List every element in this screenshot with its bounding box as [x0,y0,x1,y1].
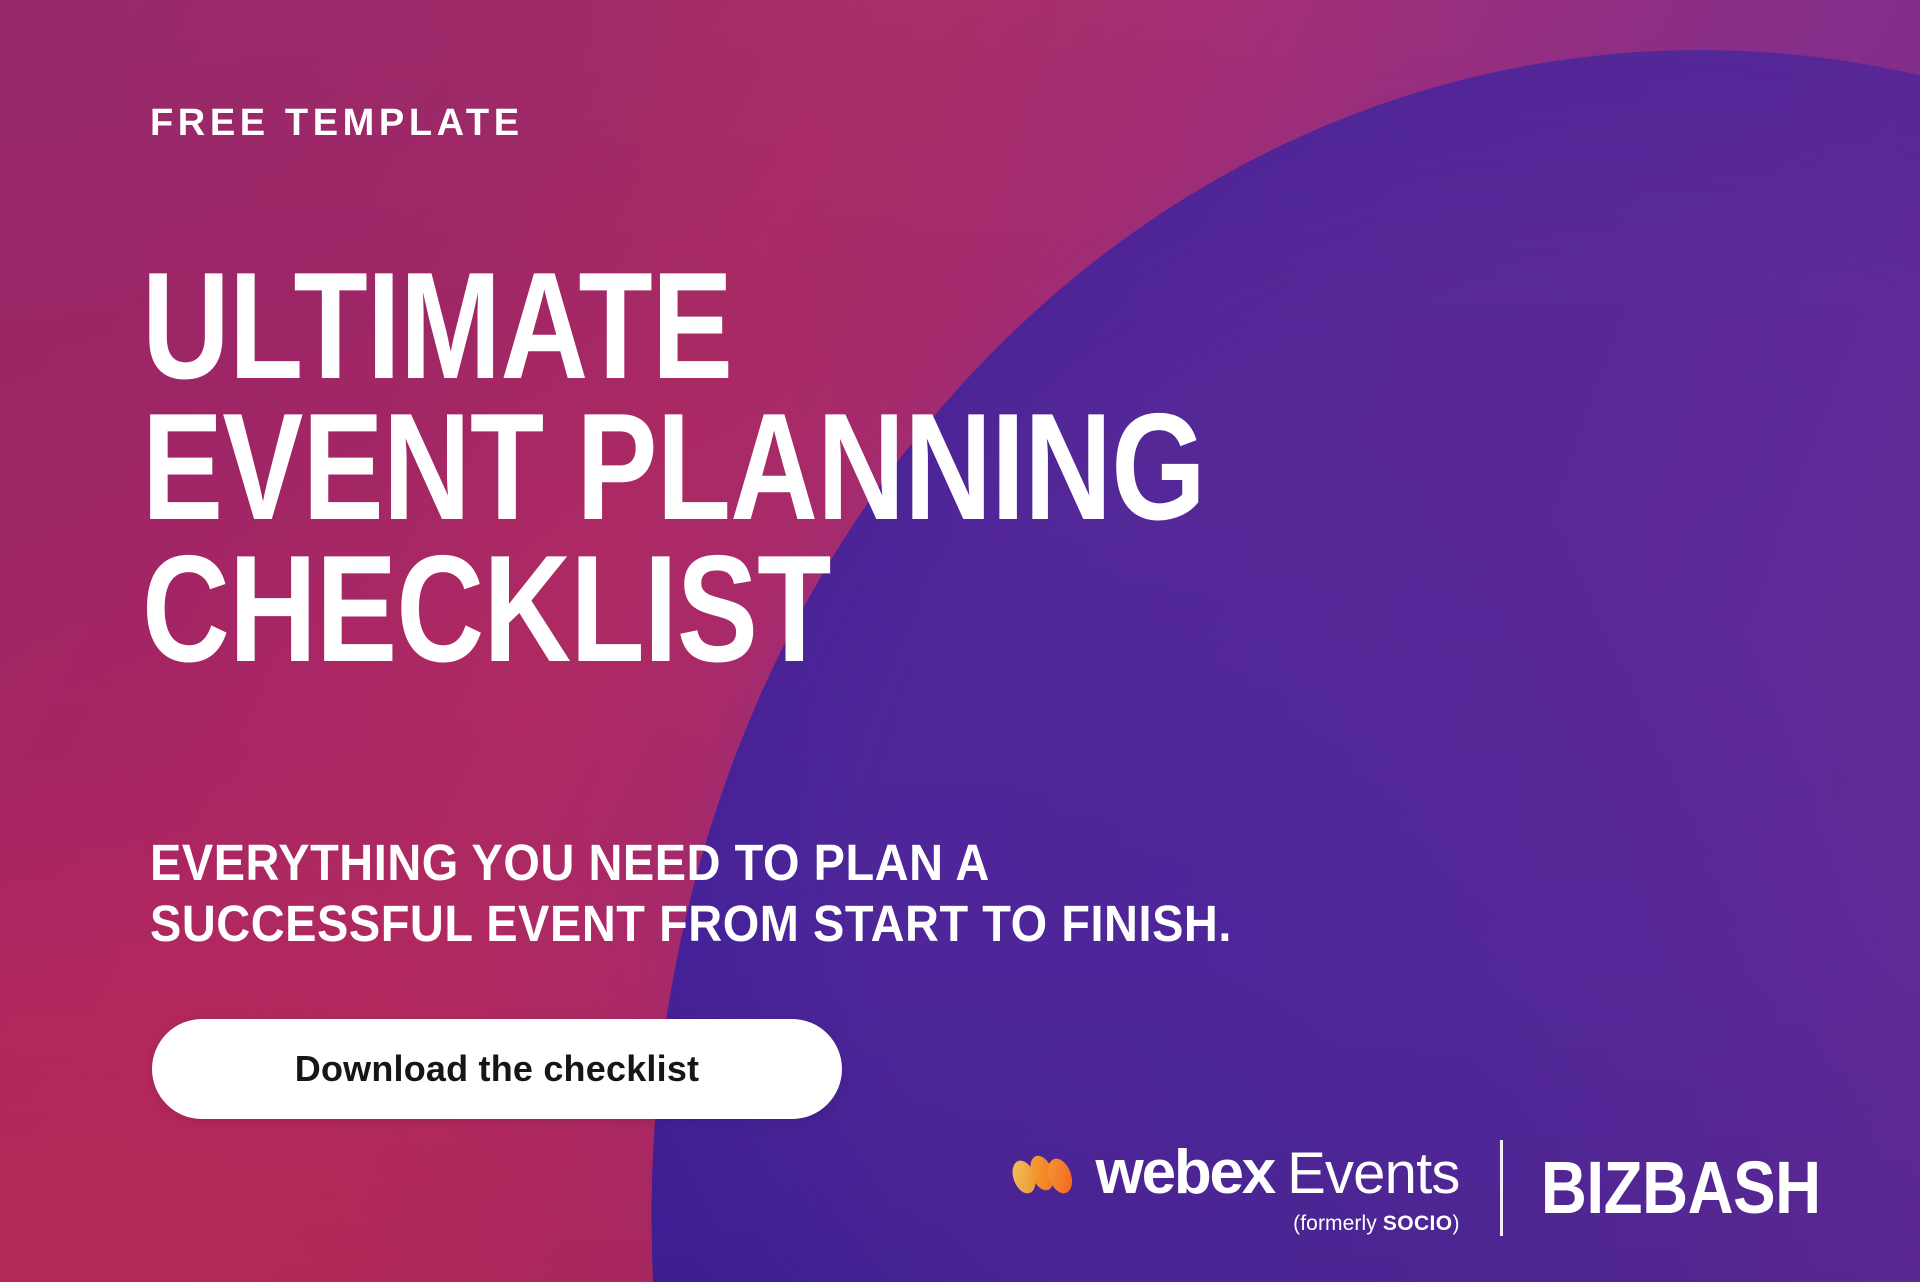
formerly-brand: SOCIO [1383,1212,1453,1235]
promo-banner: FREE TEMPLATE ULTIMATE EVENT PLANNING CH… [0,0,1920,1282]
webex-wordmark-line: webex Events [1096,1142,1460,1204]
webex-word: webex [1096,1142,1275,1204]
webex-events-logo: webex Events (formerly SOCIO) [1012,1142,1500,1234]
headline-line-1: ULTIMATE [142,256,1278,397]
subheading-line-2: SUCCESSFUL EVENT FROM START TO FINISH. [150,893,1438,954]
formerly-prefix: (formerly [1293,1212,1383,1235]
webex-wordmark-text: webex Events (formerly SOCIO) [1096,1142,1460,1234]
logo-lockup: webex Events (formerly SOCIO) BIZBASH [1012,1132,1872,1244]
webex-events-word: Events [1287,1145,1460,1203]
headline-line-2: EVENT PLANNING [142,397,1278,538]
subheading: EVERYTHING YOU NEED TO PLAN A SUCCESSFUL… [150,832,1438,954]
webex-formerly-socio-note: (formerly SOCIO) [1293,1213,1459,1234]
subheading-line-1: EVERYTHING YOU NEED TO PLAN A [150,832,1438,893]
banner-content: FREE TEMPLATE ULTIMATE EVENT PLANNING CH… [0,0,1920,1282]
eyebrow-label: FREE TEMPLATE [150,104,524,142]
bizbash-logo: BIZBASH [1503,1151,1821,1225]
webex-ribbon-icon [1012,1152,1078,1196]
headline-line-3: CHECKLIST [142,539,1278,680]
download-checklist-button[interactable]: Download the checklist [152,1019,842,1119]
page-title: ULTIMATE EVENT PLANNING CHECKLIST [142,256,1278,680]
formerly-suffix: ) [1453,1212,1460,1235]
